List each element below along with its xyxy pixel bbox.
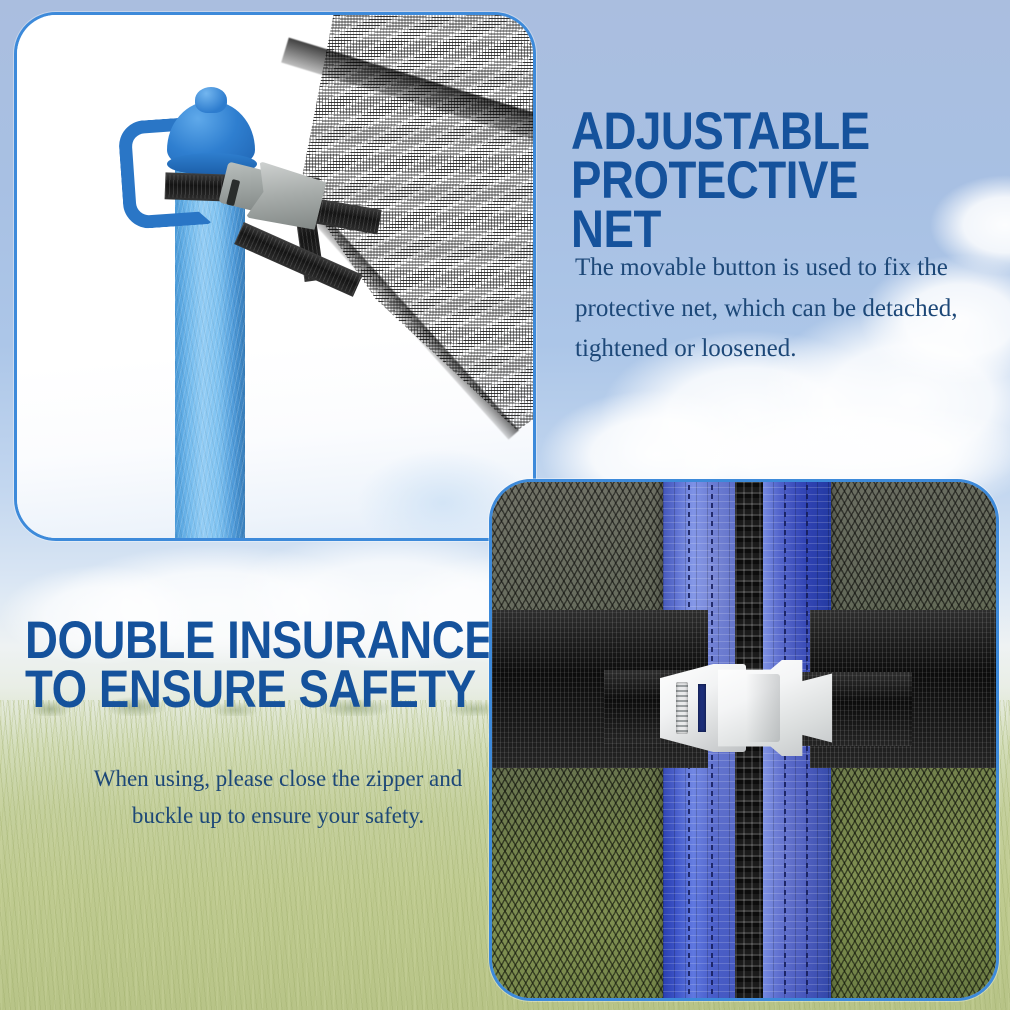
buckle-center-shading [746, 674, 780, 742]
infographic-canvas: ADJUSTABLE PROTECTIVE NET The movable bu… [0, 0, 1010, 1010]
feature-body-adjustable-net: The movable button is used to fix the pr… [575, 248, 1010, 370]
buckle-adjuster-slot [676, 682, 688, 734]
buckle-inner-slot [698, 684, 706, 732]
pole-cap-nub [195, 87, 227, 113]
photo-adjustable-net [17, 15, 533, 538]
photo-zipper-buckle [492, 482, 996, 998]
feature-body-double-insurance: When using, please close the zipper and … [68, 760, 488, 835]
buckle-slot [226, 179, 240, 206]
feature-photo-panel-adjustable-net [14, 12, 536, 541]
feature-headline-adjustable-net: ADJUSTABLE PROTECTIVE NET [571, 108, 949, 254]
white-side-release-buckle [660, 660, 832, 756]
feature-headline-double-insurance: DOUBLE INSURANCE TO ENSURE SAFETY [25, 617, 494, 715]
feature-photo-panel-double-insurance [489, 479, 999, 1001]
